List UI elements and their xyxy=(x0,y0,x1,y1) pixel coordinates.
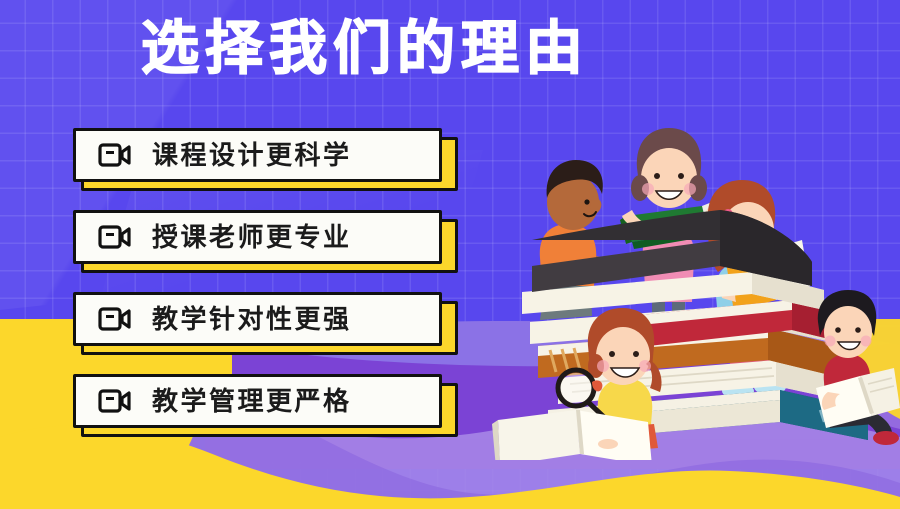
illustration-children-books xyxy=(480,110,900,460)
feature-label: 课程设计更科学 xyxy=(152,142,352,168)
feature-label: 教学管理更严格 xyxy=(152,388,352,414)
video-camera-icon xyxy=(98,306,132,332)
feature-card[interactable]: 教学管理更严格 xyxy=(73,374,442,428)
poster-canvas: 选择我们的理由 课程设计更科学 授课老师更专业 xyxy=(0,0,900,509)
child-boy-red-shirt-reading xyxy=(816,290,900,445)
feature-card[interactable]: 课程设计更科学 xyxy=(73,128,442,182)
feature-card[interactable]: 教学针对性更强 xyxy=(73,292,442,346)
video-camera-icon xyxy=(98,142,132,168)
feature-list: 课程设计更科学 授课老师更专业 教学 xyxy=(73,128,453,456)
video-camera-icon xyxy=(98,224,132,250)
video-camera-icon xyxy=(98,388,132,414)
page-title: 选择我们的理由 xyxy=(0,20,730,78)
feature-item-1[interactable]: 课程设计更科学 xyxy=(73,128,453,184)
feature-card[interactable]: 授课老师更专业 xyxy=(73,210,442,264)
feature-item-4[interactable]: 教学管理更严格 xyxy=(73,374,453,430)
feature-label: 授课老师更专业 xyxy=(152,224,352,250)
feature-item-3[interactable]: 教学针对性更强 xyxy=(73,292,453,348)
feature-label: 教学针对性更强 xyxy=(152,306,352,332)
feature-item-2[interactable]: 授课老师更专业 xyxy=(73,210,453,266)
